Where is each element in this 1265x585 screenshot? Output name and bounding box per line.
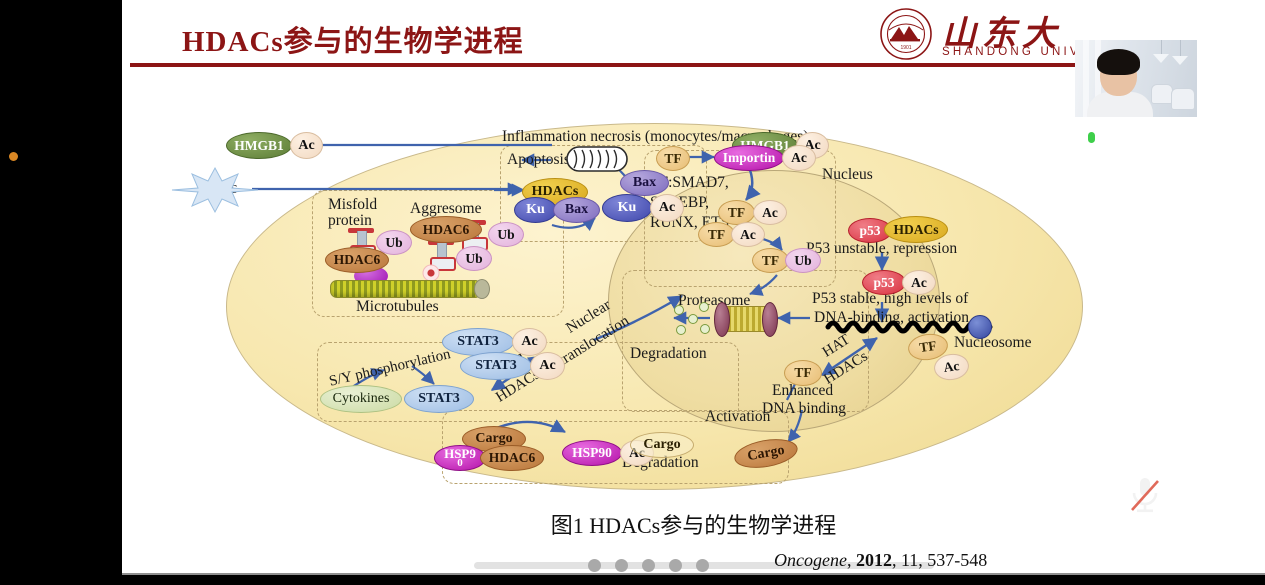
node-ub-tf: Ub — [785, 248, 821, 273]
degradation-peptide-3 — [676, 325, 686, 335]
citation-year: 2012 — [856, 550, 892, 570]
microtubule-glyph — [330, 280, 482, 298]
pendant-lamp-1 — [1153, 54, 1169, 63]
node-hdac6-aggresome: HDAC6 — [410, 216, 482, 243]
microtubule-cap — [474, 279, 490, 299]
node-tf-cytoplasmic: TF — [656, 146, 690, 171]
nucleosome-glyph — [968, 315, 992, 339]
node-bax-mitochondrial: Bax — [620, 170, 669, 196]
label-degradation-nucleus: Degradation — [630, 345, 707, 363]
node-tf-acetylated-nuclear: TF — [698, 222, 735, 247]
progress-dot-4[interactable] — [669, 559, 682, 572]
stress-burst-icon — [172, 168, 258, 212]
university-seal-icon: 1901 — [880, 8, 932, 60]
screen: HDACs参与的生物学进程 1901 山东大 SHANDONG UNIVE — [0, 0, 1265, 585]
label-nucleus: Nucleus — [822, 166, 873, 184]
node-ac-importin: Ac — [782, 145, 816, 171]
node-ac-ku: Ac — [650, 194, 684, 222]
node-ku-apoptosis: Ku — [514, 197, 557, 223]
node-importin: Importin — [714, 145, 784, 171]
logo-english-text: SHANDONG UNIVE — [942, 46, 1092, 58]
mute-toggle-button[interactable] — [1110, 460, 1180, 530]
node-hdac6-left: HDAC6 — [325, 247, 389, 273]
degradation-peptide-1 — [674, 305, 684, 315]
recording-indicator — [9, 152, 18, 161]
participant-video-thumbnail[interactable] — [1075, 40, 1197, 117]
microphone-muted-icon — [1129, 477, 1161, 515]
node-tf-enhanced-binding: TF — [784, 360, 822, 386]
node-ac-tf-acetylated: Ac — [731, 222, 765, 247]
label-nucleosome: Nucleosome — [954, 334, 1031, 352]
node-ku-free: Ku — [602, 194, 652, 222]
microphone-icon — [1083, 131, 1099, 153]
label-p53-unstable: P53 unstable, repression — [806, 240, 957, 258]
node-bax-apoptosis: Bax — [553, 197, 600, 223]
title-underline — [130, 63, 1140, 67]
node-tf-ubiquitinated: TF — [752, 248, 789, 273]
degradation-peptide-2 — [688, 314, 698, 324]
progress-dot-3[interactable] — [642, 559, 655, 572]
svg-text:1901: 1901 — [900, 45, 911, 51]
participant-name: 梁涛 — [1108, 130, 1140, 154]
mitochondrion-icon — [566, 146, 628, 172]
progress-dot-2[interactable] — [615, 559, 628, 572]
citation-rest: , 11, 537-548 — [892, 550, 987, 570]
node-hdacs-p53: HDACs — [884, 216, 948, 243]
participant-hair — [1097, 49, 1140, 75]
progress-dot-1[interactable] — [588, 559, 601, 572]
label-enhanced-2: DNA binding — [762, 400, 846, 418]
label-activation: Activation — [705, 408, 770, 426]
label-microtubules: Microtubules — [356, 298, 439, 316]
proteasome-cap-left — [714, 302, 730, 337]
slide-bottom-divider — [122, 573, 1265, 575]
progress-dot-5[interactable] — [696, 559, 709, 572]
node-cargo-degraded: Cargo — [630, 432, 694, 458]
lamp-stem-1 — [1161, 40, 1162, 54]
lamp-stem-2 — [1180, 40, 1181, 56]
node-stat3-acetylated-2: STAT3 — [460, 352, 532, 380]
participant-video-panel[interactable]: 梁涛 — [1075, 40, 1265, 175]
node-ac-stat3-2: Ac — [530, 352, 565, 380]
citation-sep: , — [847, 550, 856, 570]
node-hsp90-free: HSP90 — [562, 440, 622, 466]
node-stat3: STAT3 — [404, 385, 474, 413]
node-hmgb1-extracellular: HMGB1 — [226, 132, 292, 159]
node-ub-3: Ub — [456, 246, 492, 271]
chair-1 — [1151, 84, 1173, 104]
proteasome-cap-right — [762, 302, 778, 337]
chair-2 — [1171, 88, 1195, 110]
node-cytokines: Cytokines — [320, 385, 402, 413]
figure-caption: 图1 HDACs参与的生物学进程 — [122, 508, 1265, 540]
node-hdac6-cargo: HDAC6 — [480, 445, 544, 471]
participant-name-row: 梁涛 — [1083, 130, 1140, 154]
node-ac-extracellular: Ac — [290, 132, 323, 159]
source-citation: Oncogene, 2012, 11, 537-548 — [774, 550, 987, 571]
page-title: HDACs参与的生物学进程 — [182, 18, 524, 60]
node-ac-p53: Ac — [902, 270, 936, 295]
node-hsp90-complex: HSP90 — [434, 445, 486, 471]
degradation-peptide-5 — [700, 324, 710, 334]
label-apoptosis: Apoptosis — [507, 151, 570, 169]
pendant-lamp-2 — [1172, 56, 1188, 65]
citation-journal: Oncogene — [774, 550, 847, 570]
node-p53-stable: p53 — [862, 270, 906, 295]
node-ub-2: Ub — [488, 222, 524, 247]
degradation-peptide-4 — [699, 302, 709, 312]
node-ac-tf-nuclear: Ac — [753, 200, 787, 225]
